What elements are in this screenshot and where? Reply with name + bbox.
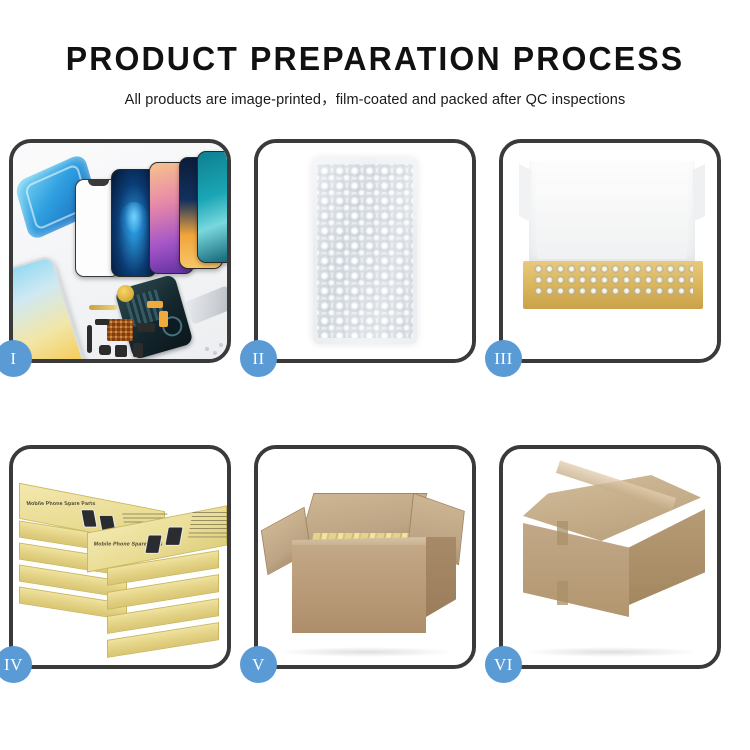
step-panel-4: Mobile Phone Spare Parts Mobile Phone Sp… xyxy=(9,445,231,669)
speaker-module-icon xyxy=(117,285,134,302)
packing-tape-seam-lower xyxy=(557,581,568,605)
screw-icon xyxy=(213,351,217,355)
step-panel-2: II xyxy=(254,139,476,363)
spare-parts-group xyxy=(85,289,227,359)
carton-shadow xyxy=(276,647,456,657)
camera-lens-icon xyxy=(133,343,143,357)
bubble-wrap-pouch xyxy=(313,158,417,344)
foam-insert xyxy=(537,185,687,259)
box-label-text: Mobile Phone Spare Parts xyxy=(26,501,96,507)
product-preparation-infographic: PRODUCT PREPARATION PROCESS All products… xyxy=(0,0,750,750)
step-panel-1: I xyxy=(9,139,231,363)
step-panel-6: VI xyxy=(499,445,721,669)
box-spec-lines xyxy=(188,511,227,537)
carton-side-face xyxy=(426,537,456,617)
steps-grid: I II III xyxy=(9,139,741,699)
step-image-3 xyxy=(503,143,717,359)
button-part-icon xyxy=(99,345,111,355)
screw-icon xyxy=(219,343,223,347)
step-panel-5: V xyxy=(254,445,476,669)
step-badge-5: V xyxy=(240,646,277,683)
flex-cable-icon xyxy=(147,301,163,308)
step-image-4: Mobile Phone Spare Parts Mobile Phone Sp… xyxy=(13,449,227,665)
ic-chip-icon xyxy=(107,319,133,341)
step-badge-1: I xyxy=(0,340,32,377)
step-badge-3: III xyxy=(485,340,522,377)
page-title: PRODUCT PREPARATION PROCESS xyxy=(11,42,739,75)
phone-teal-screen xyxy=(197,151,227,263)
step-badge-2: II xyxy=(240,340,277,377)
antenna-cable-icon xyxy=(87,325,92,353)
vibrator-icon xyxy=(137,323,155,332)
step-image-6 xyxy=(503,449,717,665)
step-panel-3: III xyxy=(499,139,721,363)
sim-tray-icon xyxy=(115,345,127,357)
packing-tape-seam-upper xyxy=(557,521,568,545)
flex-cable-icon xyxy=(159,311,168,327)
yellow-box-tray xyxy=(523,261,703,309)
flex-strip-icon xyxy=(89,305,117,310)
carton-front-face xyxy=(292,545,426,633)
step-image-5 xyxy=(258,449,472,665)
connector-icon xyxy=(95,319,109,325)
screw-icon xyxy=(205,347,209,351)
step-image-1 xyxy=(13,143,227,359)
box-stack: Mobile Phone Spare Parts Mobile Phone Sp… xyxy=(19,471,225,649)
step-badge-6: VI xyxy=(485,646,522,683)
repair-tool-icon xyxy=(184,285,227,324)
header: PRODUCT PREPARATION PROCESS All products… xyxy=(0,0,750,109)
page-subtitle: All products are image-printed，film-coat… xyxy=(0,88,750,109)
step-image-2 xyxy=(258,143,472,359)
plastic-sheen xyxy=(313,158,417,344)
sealed-carton-front xyxy=(523,523,629,617)
step-badge-4: IV xyxy=(0,646,32,683)
bubble-wrapped-item xyxy=(533,264,693,295)
sealed-carton-shadow xyxy=(521,647,701,657)
